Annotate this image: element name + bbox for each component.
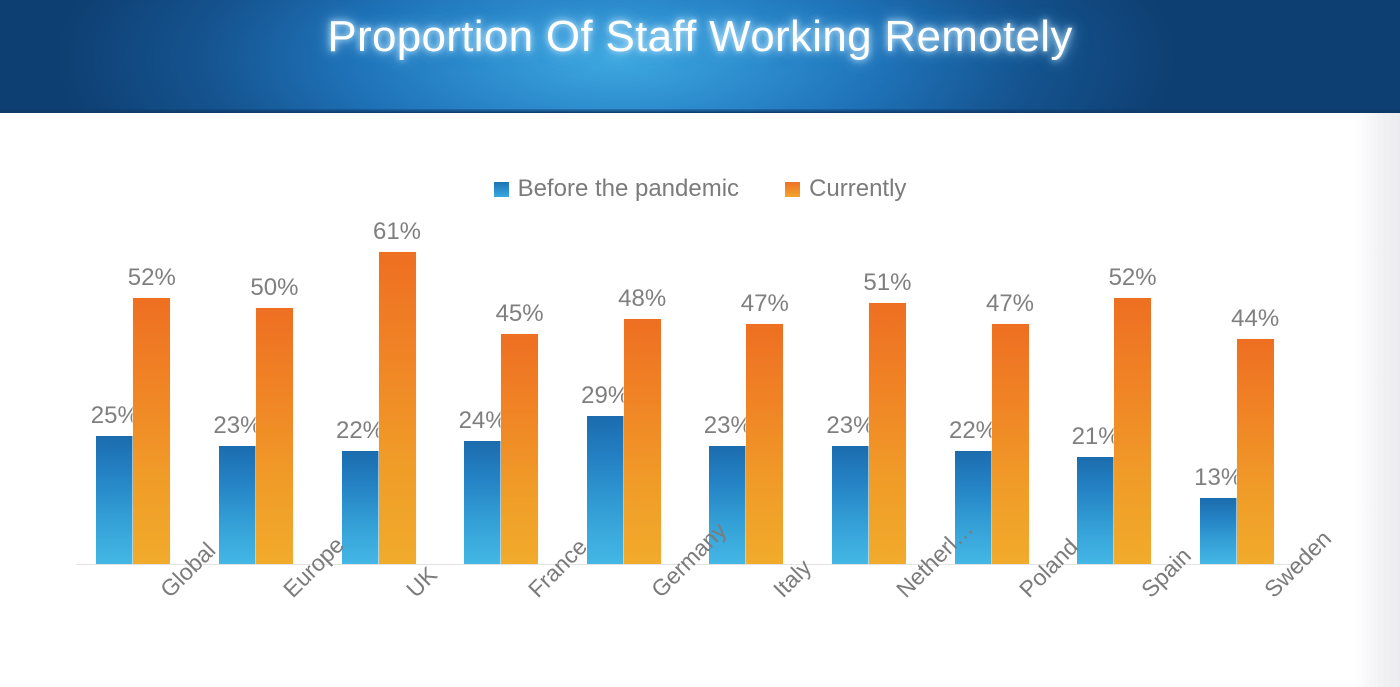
x-axis-label-spain: Spain [1136,584,1155,603]
bar-value-label: 22% [949,417,997,445]
bar-value-label: 51% [863,269,911,297]
x-axis-label-uk: UK [401,584,420,603]
bar-value-label: 13% [1194,464,1242,492]
bar-group: 24%45% [464,113,538,564]
bar-sweden-before[interactable]: 13% [1200,498,1237,564]
page-title: Proportion Of Staff Working Remotely [0,12,1400,62]
bar-value-label: 50% [250,274,298,302]
bar-uk-before[interactable]: 22% [342,451,379,564]
x-axis-label-poland: Poland [1014,584,1033,603]
bar-germany-currently[interactable]: 48% [624,319,661,565]
bar-value-label: 23% [213,412,261,440]
bar-value-label: 23% [704,412,752,440]
title-banner: Proportion Of Staff Working Remotely [0,0,1400,113]
bar-netherl-before[interactable]: 23% [832,446,869,564]
bar-global-currently[interactable]: 52% [133,298,170,564]
bar-value-label: 29% [581,382,629,410]
x-axis-label-global: Global [155,584,174,603]
bar-value-label: 45% [496,300,544,328]
bar-netherl-currently[interactable]: 51% [869,303,906,564]
bar-value-label: 52% [128,264,176,292]
bar-global-before[interactable]: 25% [96,436,133,564]
x-axis-label-netherl: Netherl… [891,584,910,603]
bar-value-label: 48% [618,285,666,313]
bar-group: 23%47% [709,113,783,564]
bar-group: 23%50% [219,113,293,564]
bar-value-label: 24% [459,407,507,435]
slide-canvas: Proportion Of Staff Working Remotely Bef… [0,0,1400,687]
bar-group: 29%48% [587,113,661,564]
x-axis-label-europe: Europe [278,584,297,603]
bar-value-label: 61% [373,218,421,246]
bar-france-currently[interactable]: 45% [501,334,538,564]
bar-europe-currently[interactable]: 50% [256,308,293,564]
chart-panel: Before the pandemic Currently 25%52%23%5… [0,113,1400,687]
bar-group: 25%52% [96,113,170,564]
bar-sweden-currently[interactable]: 44% [1237,339,1274,564]
bar-spain-currently[interactable]: 52% [1114,298,1151,564]
bar-europe-before[interactable]: 23% [219,446,256,564]
bar-france-before[interactable]: 24% [464,441,501,564]
bar-value-label: 44% [1231,305,1279,333]
bar-value-label: 22% [336,417,384,445]
x-axis-label-italy: Italy [768,584,787,603]
bar-italy-currently[interactable]: 47% [746,324,783,564]
plot-area: 25%52%23%50%22%61%24%45%29%48%23%47%23%5… [76,113,1302,564]
x-axis-tick-labels: GlobalEuropeUKFranceGermanyItalyNetherl…… [76,568,1302,683]
bar-value-label: 47% [741,290,789,318]
bar-group: 21%52% [1077,113,1151,564]
bar-group: 23%51% [832,113,906,564]
x-axis-label-france: France [523,584,542,603]
bar-value-label: 21% [1072,423,1120,451]
bar-value-label: 23% [826,412,874,440]
bar-group: 22%47% [955,113,1029,564]
bar-uk-currently[interactable]: 61% [379,252,416,564]
bar-poland-currently[interactable]: 47% [992,324,1029,564]
x-axis-label-germany: Germany [646,584,665,603]
bar-group: 22%61% [342,113,416,564]
bar-spain-before[interactable]: 21% [1077,457,1114,564]
bar-value-label: 52% [1109,264,1157,292]
x-axis-label-sweden: Sweden [1259,584,1278,603]
bar-group: 13%44% [1200,113,1274,564]
bar-value-label: 47% [986,290,1034,318]
bar-germany-before[interactable]: 29% [587,416,624,564]
bar-value-label: 25% [91,402,139,430]
